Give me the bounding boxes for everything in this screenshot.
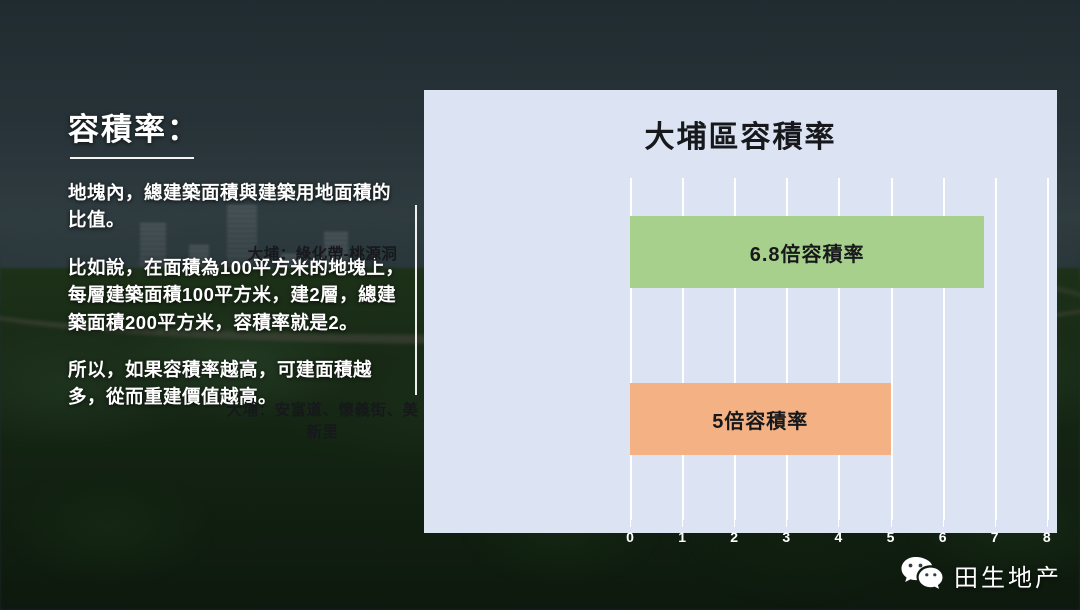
brand-name: 田生地产 [954, 558, 1062, 593]
vertical-divider [415, 205, 417, 395]
chart-panel: 大埔區容積率 6.8倍容積率 5倍容積率 大埔：綠化帶-桃源洞 [424, 90, 1057, 533]
paragraph-definition: 地塊內，總建築面積與建築用地面積的比值。 [68, 179, 408, 234]
plot-area: 6.8倍容積率 5倍容積率 [630, 178, 1057, 520]
bar-value-label-1: 5倍容積率 [712, 405, 808, 434]
bar-row-0: 6.8倍容積率 [630, 216, 1057, 288]
bar-row-1: 5倍容積率 [630, 383, 1057, 455]
category-label-0: 大埔：綠化帶-桃源洞 [225, 244, 420, 266]
x-tick-7: 7 [991, 529, 999, 545]
x-tick-0: 0 [626, 529, 634, 545]
bar-value-label-0: 6.8倍容積率 [750, 238, 865, 267]
x-tick-1: 1 [678, 529, 686, 545]
heading-underline [70, 157, 194, 159]
x-tick-4: 4 [834, 529, 842, 545]
x-tick-6: 6 [939, 529, 947, 545]
x-tick-3: 3 [782, 529, 790, 545]
section-heading: 容積率： [68, 104, 408, 155]
left-text-column: 容積率： 地塊內，總建築面積與建築用地面積的比值。 比如說，在面積為100平方米… [68, 104, 408, 431]
wechat-icon [900, 555, 944, 596]
x-tick-8: 8 [1043, 529, 1051, 545]
x-tick-2: 2 [730, 529, 738, 545]
bar-green[interactable]: 6.8倍容積率 [630, 216, 984, 288]
x-axis: 0 1 2 3 4 5 6 7 8 [630, 520, 1057, 556]
wechat-footer: 田生地产 [900, 555, 1062, 596]
slide: 容積率： 地塊內，總建築面積與建築用地面積的比值。 比如說，在面積為100平方米… [0, 0, 1080, 610]
category-label-1: 大埔：安富道、懷義街、美新里 [225, 400, 420, 445]
bar-orange[interactable]: 5倍容積率 [630, 383, 891, 455]
x-tick-5: 5 [887, 529, 895, 545]
chart-title: 大埔區容積率 [424, 112, 1057, 156]
